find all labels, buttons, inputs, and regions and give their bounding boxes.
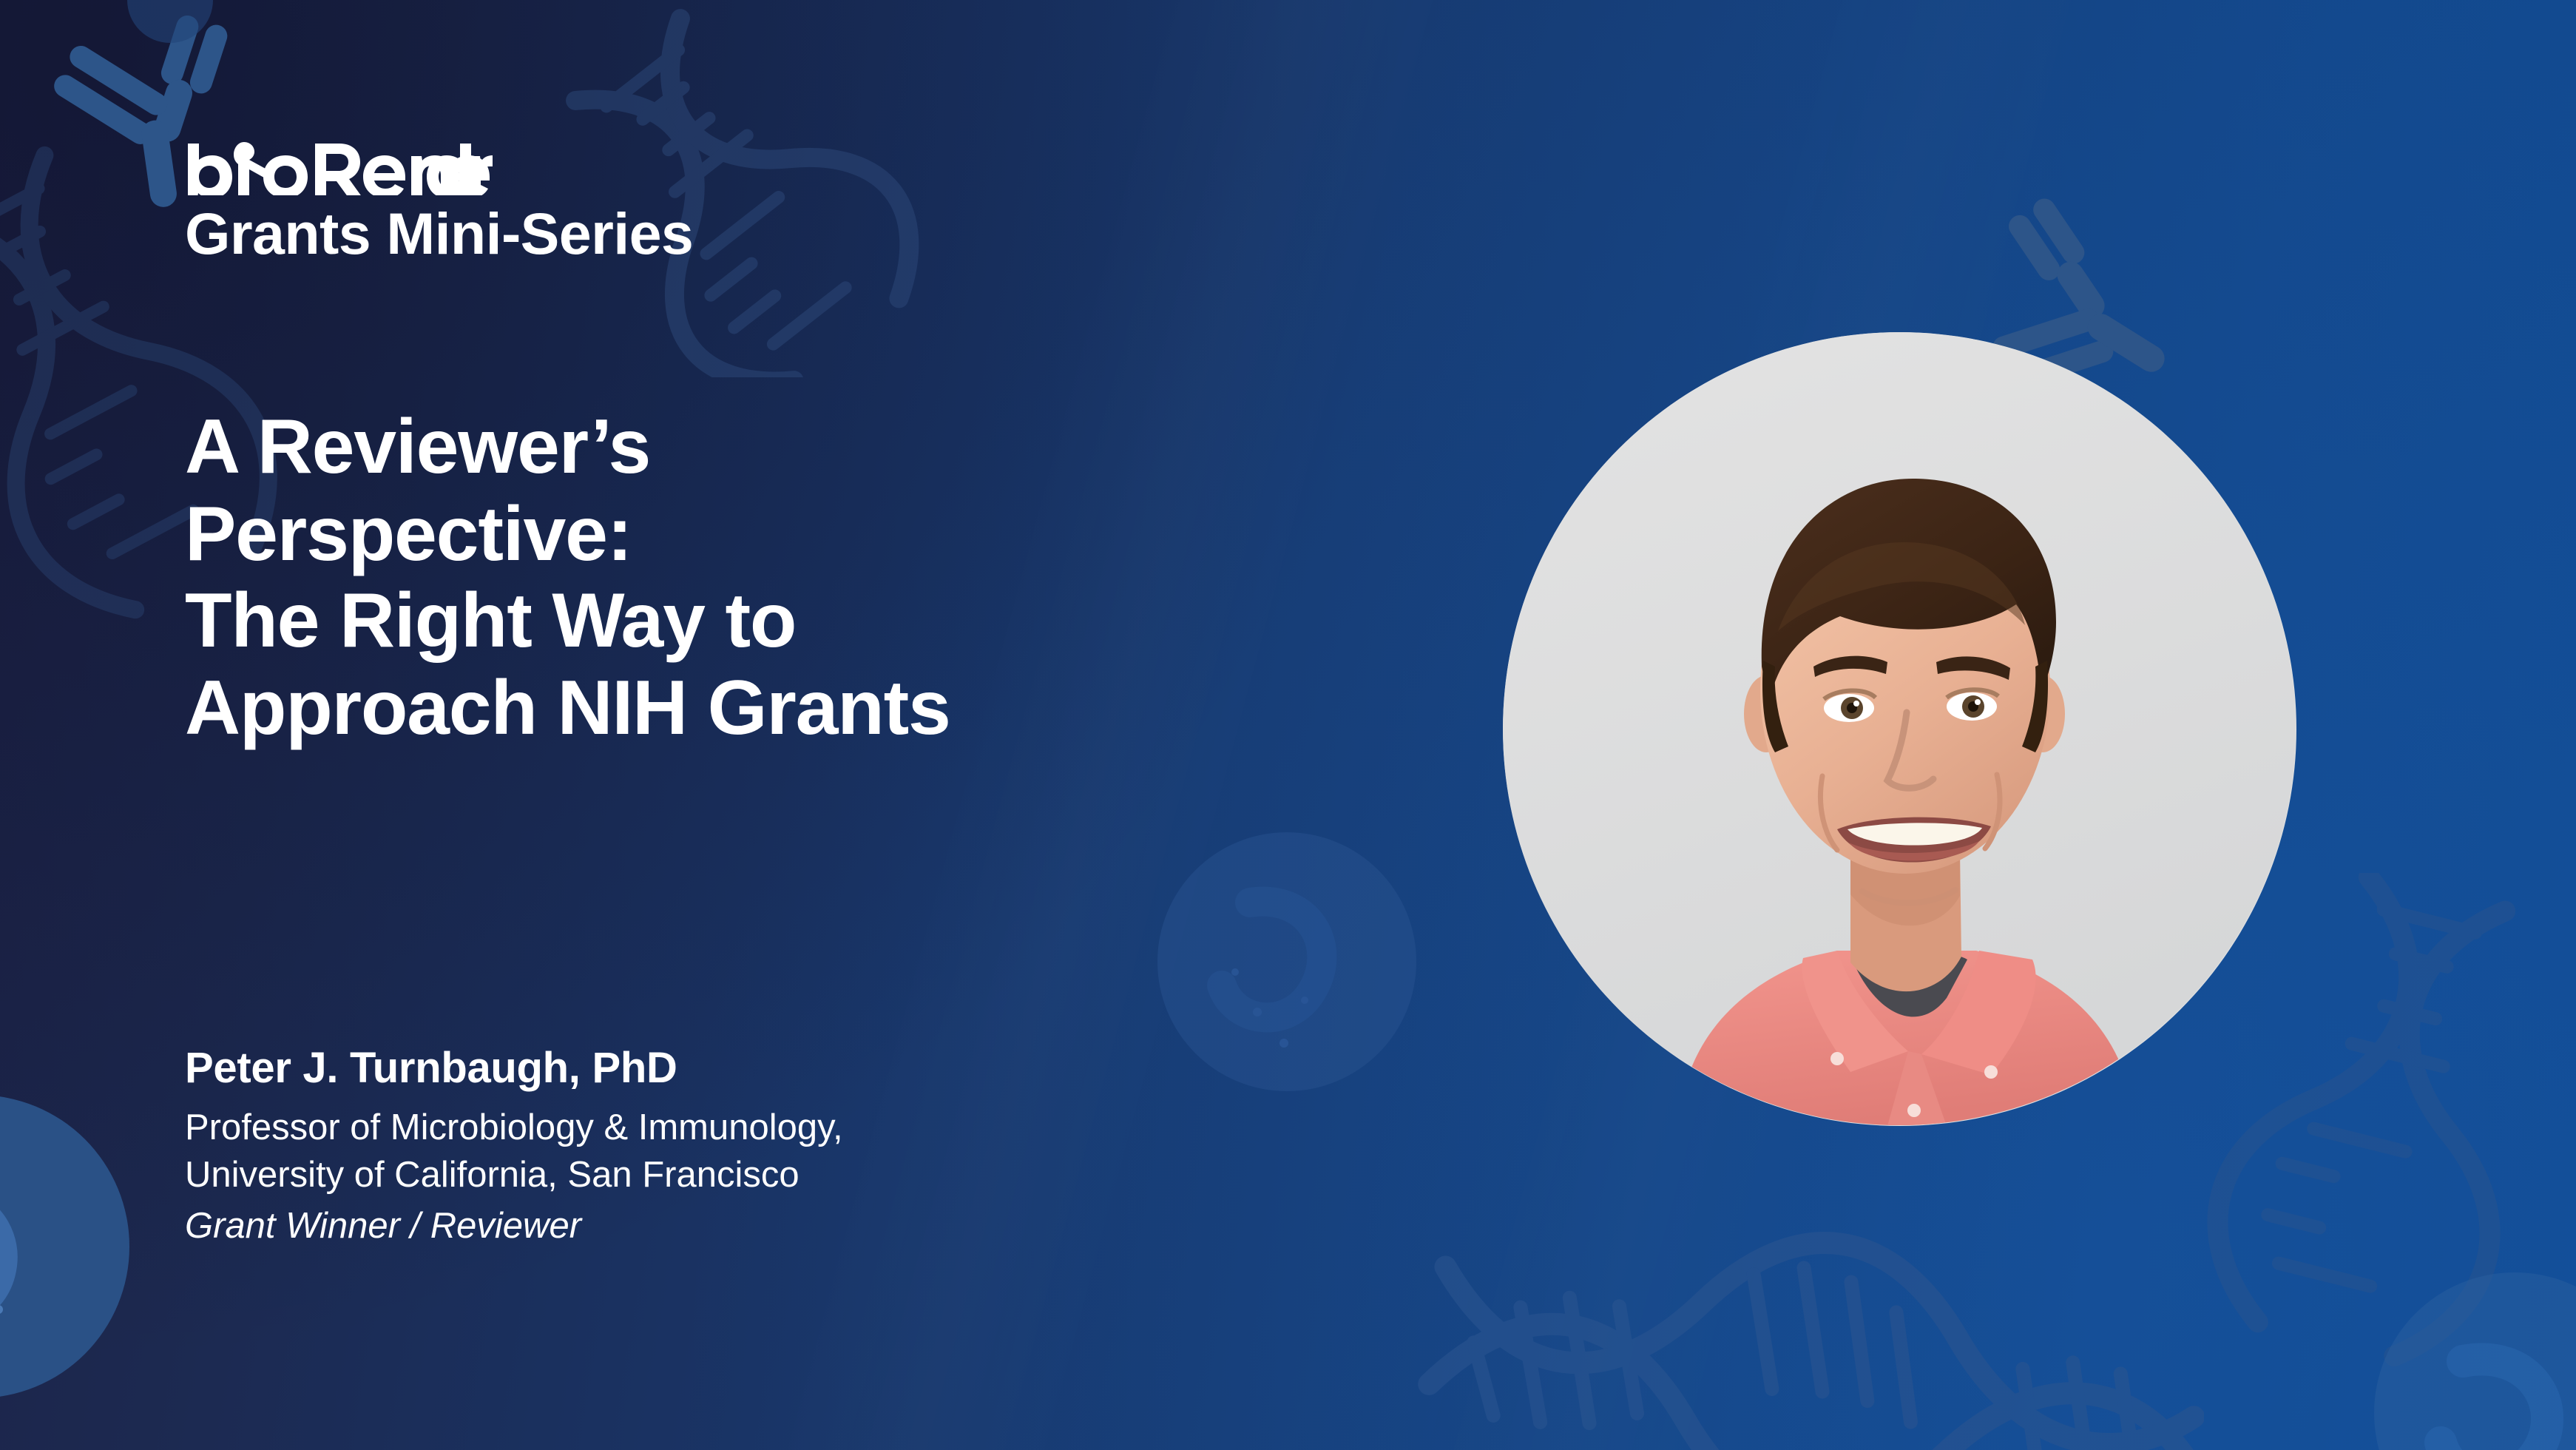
page-title: A Reviewer’s Perspective: The Right Way … bbox=[185, 404, 1487, 752]
series-label: Grants Mini-Series bbox=[185, 200, 693, 268]
portrait-image bbox=[1503, 332, 2296, 1126]
slide-content: bioRender Grants Mini-Series A Reviewer’… bbox=[185, 0, 1516, 1450]
speaker-affiliation: University of California, San Francisco bbox=[185, 1152, 1442, 1199]
title-line-1: A Reviewer’s bbox=[185, 404, 1487, 491]
biorender-logo[interactable]: bioRender bbox=[185, 142, 747, 195]
speaker-portrait bbox=[1503, 332, 2296, 1126]
speaker-title: Professor of Microbiology & Immunology, bbox=[185, 1105, 1442, 1152]
title-line-2: Perspective: bbox=[185, 491, 1487, 579]
presentation-slide: bioRender Grants Mini-Series A Reviewer’… bbox=[0, 0, 2576, 1450]
speaker-info: Peter J. Turnbaugh, PhD Professor of Mic… bbox=[185, 1043, 1442, 1250]
speaker-role: Grant Winner / Reviewer bbox=[185, 1203, 1442, 1250]
title-line-4: Approach NIH Grants bbox=[185, 665, 1487, 752]
biorender-logo-icon bbox=[185, 142, 496, 195]
title-line-3: The Right Way to bbox=[185, 578, 1487, 665]
speaker-name: Peter J. Turnbaugh, PhD bbox=[185, 1043, 1442, 1093]
